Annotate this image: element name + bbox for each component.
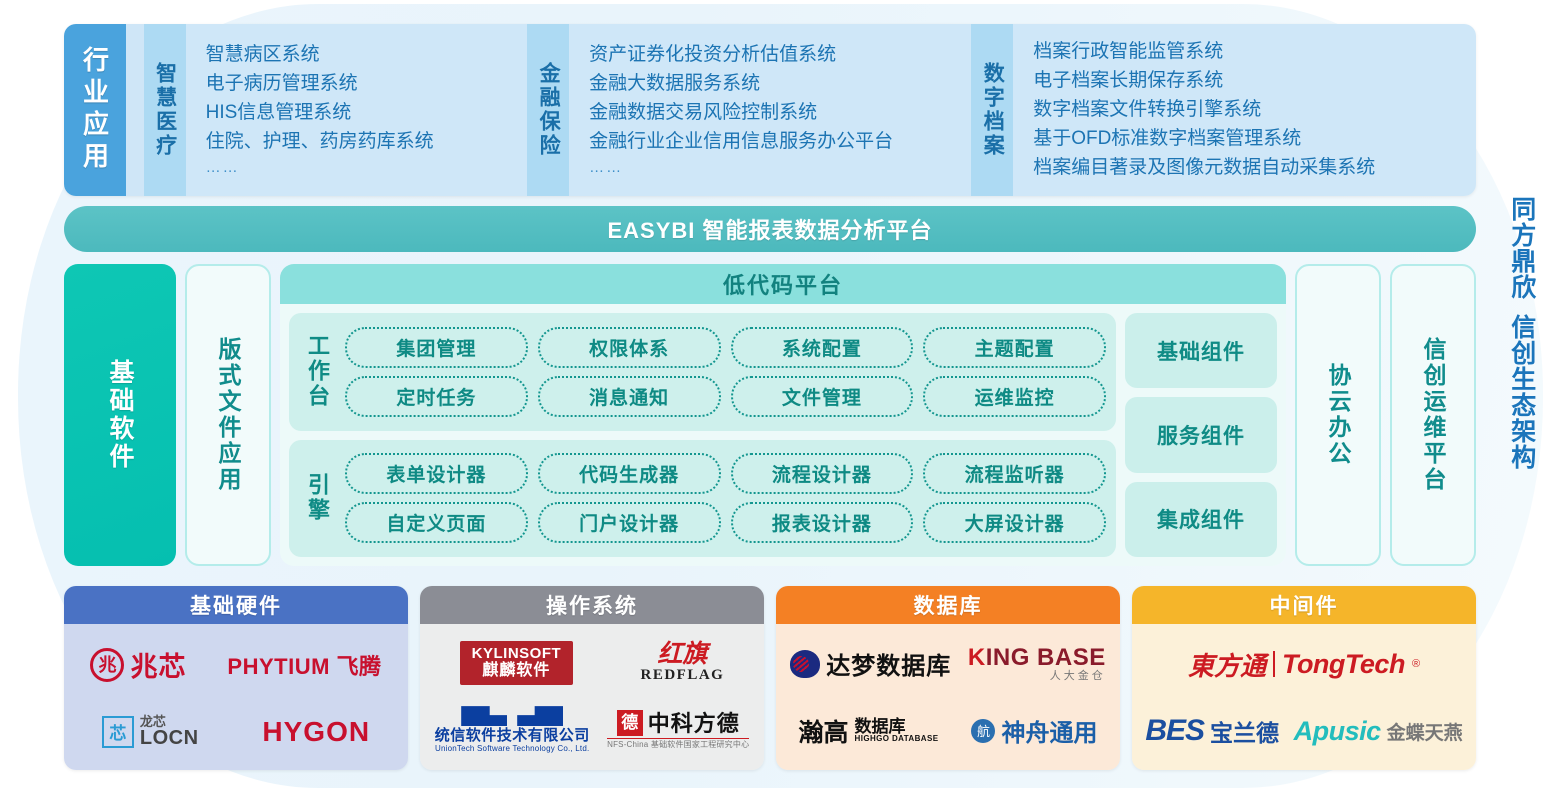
logo-zhaoxin: 兆 兆芯: [90, 645, 186, 684]
loongson-label-cn: 龙芯: [140, 715, 199, 728]
format-file-app-column: 版式文件应用: [185, 264, 271, 566]
group-workbench: 工作台 集团管理 权限体系 系统配置 主题配置 定时任务 消息通知 文件管理 运…: [289, 313, 1116, 431]
industry-applications-row: 行业应用 智慧医疗 智慧病区系统 电子病历管理系统 HIS信息管理系统 住院、护…: [64, 24, 1476, 196]
list-item: 数字档案文件转换引擎系统: [1033, 96, 1460, 124]
divider-icon: [1273, 651, 1275, 677]
list-item-more: ……: [206, 157, 511, 179]
list-item: 金融大数据服务系统: [589, 70, 955, 98]
stack-title-middleware: 中间件: [1132, 586, 1476, 624]
logo-redflag: 红旗 REDFLAG: [640, 642, 724, 684]
chip-item[interactable]: 自定义页面: [345, 502, 528, 543]
phytium-label: PHYTIUM 飞腾: [227, 649, 381, 681]
list-item: 金融数据交易风险控制系统: [589, 99, 955, 127]
logo-highgo: 瀚高 数据库 HIGHGO DATABASE: [799, 713, 939, 749]
list-item: 金融行业企业信用信息服务办公平台: [589, 128, 955, 156]
zkfd-top: 德 中科方德: [617, 710, 740, 736]
brand-line-2: 信创生态架构: [1506, 314, 1536, 470]
shenzhou-icon: 航: [971, 719, 995, 743]
chip-item[interactable]: 系统配置: [731, 327, 914, 368]
loongson-icon: 芯: [102, 716, 134, 748]
baolande-label: 宝兰德: [1210, 714, 1279, 748]
list-item: HIS信息管理系统: [206, 99, 511, 127]
list-item: 智慧病区系统: [206, 41, 511, 69]
highgo-icon-label: 瀚高: [799, 713, 849, 749]
category-label-digital-archive: 数字档案: [971, 24, 1013, 196]
group-label-engine: 引擎: [295, 473, 339, 523]
shenzhou-label: 神舟通用: [1001, 713, 1097, 748]
collab-office-column: 协云办公: [1295, 264, 1381, 566]
divider-1: [126, 24, 144, 196]
zhaoxin-icon: 兆: [90, 648, 124, 682]
logo-kylinsoft: KYLINSOFT 麒麟软件: [460, 641, 574, 686]
list-item: 基于OFD标准数字档案管理系统: [1033, 125, 1460, 153]
lowcode-platform-title: 低代码平台: [280, 264, 1286, 304]
stack-middleware: 中间件 東方通 TongTech ® BES 宝兰德: [1132, 586, 1476, 770]
logo-dameng: 达梦数据库: [790, 646, 951, 681]
stack-body-middleware: 東方通 TongTech ® BES 宝兰德 Apusic 金蝶天燕: [1132, 624, 1476, 770]
category-items-smart-medical: 智慧病区系统 电子病历管理系统 HIS信息管理系统 住院、护理、药房药库系统 ……: [186, 24, 527, 196]
logo-hygon: HYGON: [262, 716, 370, 748]
logo-row: 达梦数据库 KING BASE 人大金仓: [786, 645, 1110, 682]
logo-phytium: PHYTIUM 飞腾: [227, 649, 381, 681]
component-basic[interactable]: 基础组件: [1125, 313, 1277, 388]
group-engine: 引擎 表单设计器 代码生成器 流程设计器 流程监听器 自定义页面 门户设计器 报…: [289, 440, 1116, 558]
chip-item[interactable]: 集团管理: [345, 327, 528, 368]
platform-band: 基础软件 版式文件应用 低代码平台 工作台 集团管理 权限体系 系统配置 主题配…: [64, 264, 1476, 566]
stack-database: 数据库 达梦数据库 KING BASE 人大金仓 瀚高: [776, 586, 1120, 770]
tongtech-label-cn: 東方通: [1188, 646, 1266, 683]
category-label-finance-insurance: 金融保险: [527, 24, 569, 196]
uniontech-label-cn: 统信软件技术有限公司: [435, 728, 590, 745]
uniontech-icon: [461, 706, 563, 726]
logo-bes-baolande: BES 宝兰德: [1145, 714, 1279, 748]
highgo-text: 数据库 HIGHGO DATABASE: [855, 718, 939, 743]
chip-item[interactable]: 表单设计器: [345, 453, 528, 494]
tongtech-label-en: TongTech: [1282, 649, 1405, 680]
kingbase-label-cn: 人大金仓: [1050, 671, 1106, 683]
list-item: 住院、护理、药房药库系统: [206, 128, 511, 156]
category-label-smart-medical: 智慧医疗: [144, 24, 186, 196]
logo-apusic: Apusic 金蝶天燕: [1294, 716, 1463, 747]
group-chip-grid-engine: 表单设计器 代码生成器 流程设计器 流程监听器 自定义页面 门户设计器 报表设计…: [345, 453, 1106, 543]
stack-body-basic-hardware: 兆 兆芯 PHYTIUM 飞腾 芯 龙芯 LOCN: [64, 624, 408, 770]
logo-row: 瀚高 数据库 HIGHGO DATABASE 航 神舟通用: [786, 713, 1110, 749]
registered-icon: ®: [1412, 658, 1420, 670]
lowcode-groups: 工作台 集团管理 权限体系 系统配置 主题配置 定时任务 消息通知 文件管理 运…: [289, 313, 1116, 557]
chip-item[interactable]: 流程监听器: [923, 453, 1106, 494]
brand-vertical-text: 同方鼎欣 信创生态架构: [1499, 196, 1543, 666]
chip-item[interactable]: 报表设计器: [731, 502, 914, 543]
logo-zhongke-fangde: 德 中科方德 NFS-China 基础软件国家工程研究中心: [607, 710, 749, 749]
zkfd-label-cn: 中科方德: [648, 712, 740, 735]
highgo-label-en: HIGHGO DATABASE: [855, 735, 939, 743]
chip-item[interactable]: 大屏设计器: [923, 502, 1106, 543]
kingbase-label-en: KING BASE: [968, 645, 1106, 670]
redflag-label-en: REDFLAG: [640, 668, 724, 684]
kingbase-k: K: [968, 644, 986, 671]
zhaoxin-label: 兆芯: [130, 645, 186, 684]
redflag-label-cn: 红旗: [657, 642, 707, 668]
list-item: 电子病历管理系统: [206, 70, 511, 98]
architecture-diagram: 同方鼎欣 信创生态架构 行业应用 智慧医疗 智慧病区系统 电子病历管理系统 HI…: [0, 0, 1555, 792]
component-integration[interactable]: 集成组件: [1125, 482, 1277, 557]
loongson-label-en: LOCN: [140, 728, 199, 748]
category-items-finance-insurance: 资产证券化投资分析估值系统 金融大数据服务系统 金融数据交易风险控制系统 金融行…: [569, 24, 971, 196]
list-item: 档案编目著录及图像元数据自动采集系统: [1033, 154, 1460, 182]
chip-item[interactable]: 定时任务: [345, 376, 528, 417]
list-item: 档案行政智能监管系统: [1033, 38, 1460, 66]
logo-kingbase: KING BASE 人大金仓: [968, 645, 1106, 682]
list-item: 电子档案长期保存系统: [1033, 67, 1460, 95]
chip-item[interactable]: 运维监控: [923, 376, 1106, 417]
bes-label: BES: [1145, 714, 1204, 748]
component-column: 基础组件 服务组件 集成组件: [1125, 313, 1277, 557]
logo-row: KYLINSOFT 麒麟软件 红旗 REDFLAG: [430, 641, 754, 686]
logo-row: 统信软件技术有限公司 UnionTech Software Technology…: [430, 706, 754, 753]
uniontech-label-en: UnionTech Software Technology Co., Ltd.: [435, 745, 589, 754]
logo-tongtech: 東方通 TongTech ®: [1188, 646, 1420, 683]
ops-platform-column: 信创运维平台: [1390, 264, 1476, 566]
stack-title-basic-hardware: 基础硬件: [64, 586, 408, 624]
logo-uniontech: 统信软件技术有限公司 UnionTech Software Technology…: [435, 706, 590, 753]
lowcode-platform-body: 工作台 集团管理 权限体系 系统配置 主题配置 定时任务 消息通知 文件管理 运…: [280, 304, 1286, 566]
kylinsoft-label-cn: 麒麟软件: [482, 663, 550, 680]
base-software-column: 基础软件: [64, 264, 176, 566]
stack-title-database: 数据库: [776, 586, 1120, 624]
group-label-workbench: 工作台: [295, 334, 339, 409]
lowcode-platform: 低代码平台 工作台 集团管理 权限体系 系统配置 主题配置 定时任务 消息通知 …: [280, 264, 1286, 566]
component-service[interactable]: 服务组件: [1125, 397, 1277, 472]
chip-item[interactable]: 权限体系: [538, 327, 721, 368]
logo-row: 芯 龙芯 LOCN HYGON: [74, 715, 398, 749]
brand-line-1: 同方鼎欣: [1506, 196, 1536, 300]
industry-applications-header: 行业应用: [64, 24, 126, 196]
category-items-digital-archive: 档案行政智能监管系统 电子档案长期保存系统 数字档案文件转换引擎系统 基于OFD…: [1013, 24, 1476, 196]
stack-body-operating-system: KYLINSOFT 麒麟软件 红旗 REDFLAG 统信软件技术有限公司 Uni…: [420, 624, 764, 770]
stack-operating-system: 操作系统 KYLINSOFT 麒麟软件 红旗 REDFLAG 统信软件技术有: [420, 586, 764, 770]
chip-item[interactable]: 门户设计器: [538, 502, 721, 543]
dameng-label: 达梦数据库: [826, 646, 951, 681]
loongson-text: 龙芯 LOCN: [140, 715, 199, 749]
logo-shenzhou: 航 神舟通用: [971, 713, 1097, 748]
logo-loongson: 芯 龙芯 LOCN: [102, 715, 199, 749]
kingbase-rest: ING BASE: [986, 644, 1106, 671]
list-item-more: ……: [589, 157, 955, 179]
infrastructure-stacks: 基础硬件 兆 兆芯 PHYTIUM 飞腾 芯 龙芯: [64, 586, 1476, 770]
list-item: 资产证券化投资分析估值系统: [589, 41, 955, 69]
dameng-icon: [790, 650, 820, 678]
chip-item[interactable]: 文件管理: [731, 376, 914, 417]
chip-item[interactable]: 代码生成器: [538, 453, 721, 494]
zkfd-label-sub: NFS-China 基础软件国家工程研究中心: [607, 738, 749, 749]
chip-item[interactable]: 主题配置: [923, 327, 1106, 368]
stack-basic-hardware: 基础硬件 兆 兆芯 PHYTIUM 飞腾 芯 龙芯: [64, 586, 408, 770]
group-chip-grid-workbench: 集团管理 权限体系 系统配置 主题配置 定时任务 消息通知 文件管理 运维监控: [345, 327, 1106, 417]
stack-title-operating-system: 操作系统: [420, 586, 764, 624]
chip-item[interactable]: 消息通知: [538, 376, 721, 417]
kylinsoft-label-en: KYLINSOFT: [472, 646, 562, 662]
chip-item[interactable]: 流程设计器: [731, 453, 914, 494]
stack-body-database: 达梦数据库 KING BASE 人大金仓 瀚高 数据库 HIGHGO DATAB…: [776, 624, 1120, 770]
zkfd-icon: 德: [617, 710, 643, 736]
jindie-tianyan-label: 金蝶天燕: [1387, 718, 1463, 745]
hygon-label: HYGON: [262, 716, 370, 748]
easybi-banner: EASYBI 智能报表数据分析平台: [64, 206, 1476, 252]
logo-row: BES 宝兰德 Apusic 金蝶天燕: [1142, 714, 1466, 748]
apusic-label: Apusic: [1294, 716, 1381, 747]
logo-row: 東方通 TongTech ®: [1142, 646, 1466, 683]
highgo-label-cn: 数据库: [855, 718, 939, 735]
logo-row: 兆 兆芯 PHYTIUM 飞腾: [74, 645, 398, 684]
